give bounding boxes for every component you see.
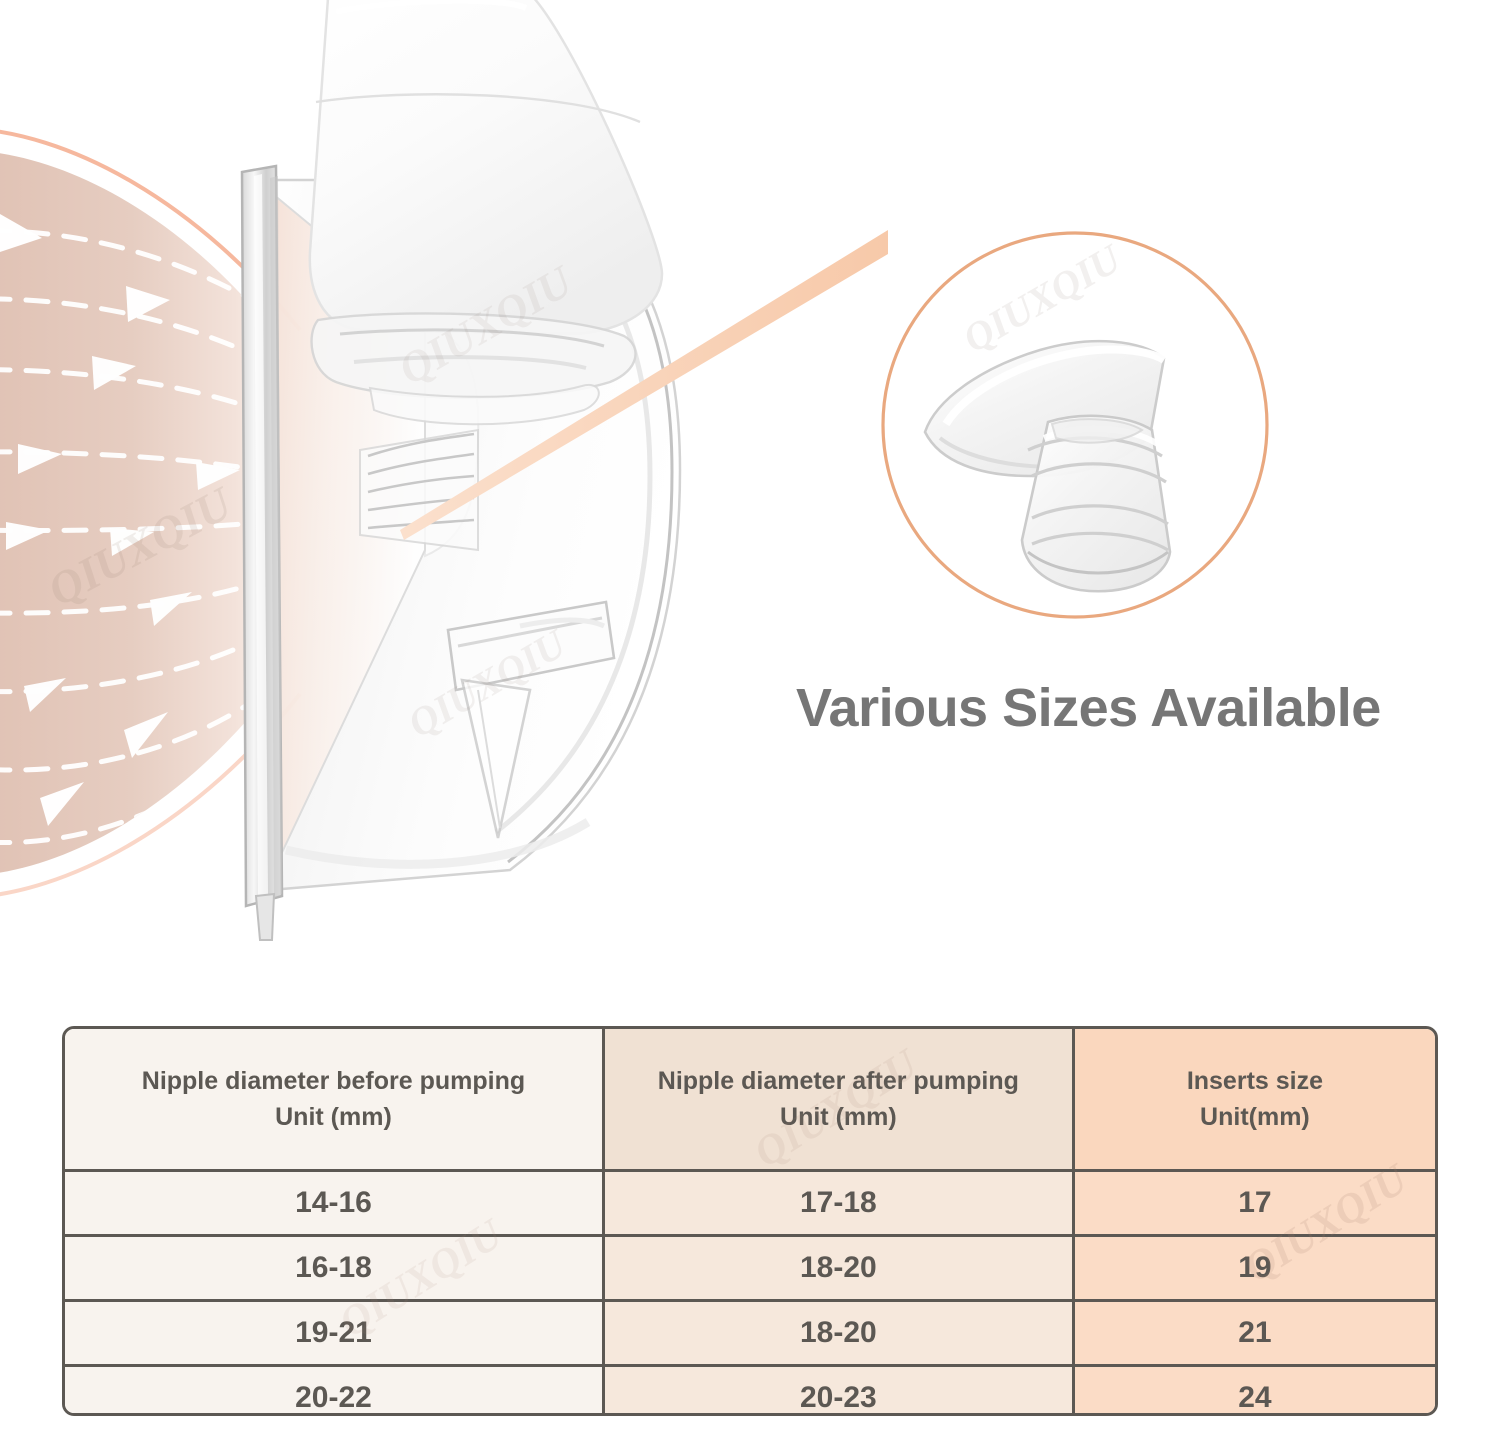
- cell-after: 20-23: [603, 1366, 1073, 1417]
- column-header-line1: Nipple diameter after pumping: [605, 1063, 1072, 1099]
- cell-before: 16-18: [65, 1236, 603, 1301]
- cell-after: 18-20: [603, 1236, 1073, 1301]
- column-header-line2: Unit (mm): [605, 1099, 1072, 1135]
- column-header-inserts-size: Inserts size Unit(mm): [1073, 1029, 1435, 1171]
- cell-insert: 21: [1073, 1301, 1435, 1366]
- product-illustration: Various Sizes Available QIUXQIU QIUXQIU …: [0, 0, 1500, 1000]
- table-row: 14-16 17-18 17: [65, 1171, 1435, 1236]
- cell-insert: 19: [1073, 1236, 1435, 1301]
- cell-insert: 24: [1073, 1366, 1435, 1417]
- breast-shield-flange: [242, 166, 282, 940]
- table-row: 20-22 20-23 24: [65, 1366, 1435, 1417]
- cell-before: 19-21: [65, 1301, 603, 1366]
- column-header-after-pumping: Nipple diameter after pumping Unit (mm): [603, 1029, 1073, 1171]
- column-header-line2: Unit(mm): [1075, 1099, 1435, 1135]
- table-row: 16-18 18-20 19: [65, 1236, 1435, 1301]
- column-header-before-pumping: Nipple diameter before pumping Unit (mm): [65, 1029, 603, 1171]
- column-header-line2: Unit (mm): [65, 1099, 602, 1135]
- insert-size-table: Nipple diameter before pumping Unit (mm)…: [62, 1026, 1438, 1416]
- column-header-line1: Nipple diameter before pumping: [65, 1063, 602, 1099]
- cell-after: 18-20: [603, 1301, 1073, 1366]
- cell-insert: 17: [1073, 1171, 1435, 1236]
- table-header-row: Nipple diameter before pumping Unit (mm)…: [65, 1029, 1435, 1171]
- callout-leader-line: [400, 230, 888, 540]
- cell-after: 17-18: [603, 1171, 1073, 1236]
- cell-before: 14-16: [65, 1171, 603, 1236]
- cell-before: 20-22: [65, 1366, 603, 1417]
- page-title: Various Sizes Available: [796, 673, 1436, 743]
- table-row: 19-21 18-20 21: [65, 1301, 1435, 1366]
- column-header-line1: Inserts size: [1075, 1063, 1435, 1099]
